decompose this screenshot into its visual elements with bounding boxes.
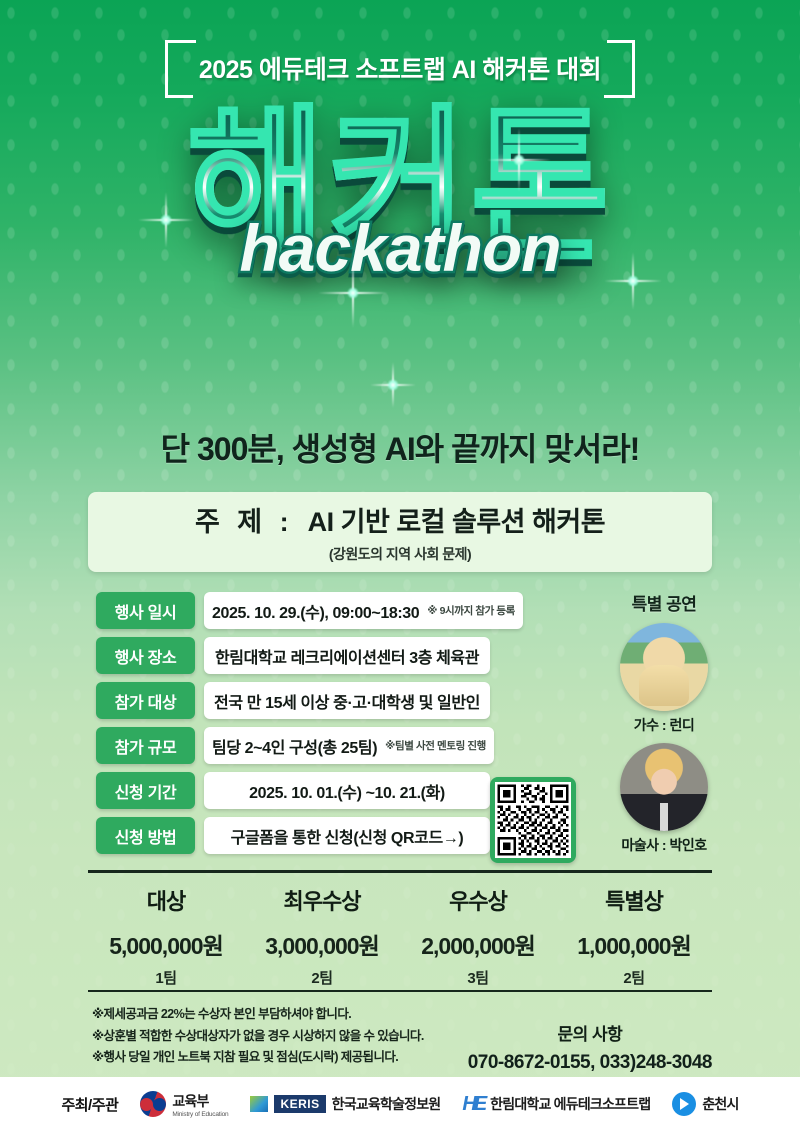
prize-team-count: 2팀	[244, 967, 400, 988]
info-row: 신청 기간 2025. 10. 01.(수) ~10. 21.(화)	[96, 772, 490, 809]
hallym-edutech-icon: HE	[462, 1093, 484, 1116]
info-table: 행사 일시 2025. 10. 29.(수), 09:00~18:30 ※ 9시…	[96, 592, 490, 862]
note-item: ※상훈별 적합한 수상대상자가 없을 경우 시상하지 않을 수 있습니다.	[92, 1026, 492, 1048]
keris-badge: KERIS	[274, 1095, 325, 1113]
info-row-value-text: 2025. 10. 01.(수) ~10. 21.(화)	[249, 779, 445, 803]
prize-column: 대상 5,000,000원 1팀	[88, 884, 244, 988]
logo-chuncheon-text: 춘천시	[702, 1094, 738, 1114]
qr-code-icon	[495, 782, 571, 858]
notes-list: ※제세공과금 22%는 수상자 본인 부담하셔야 합니다. ※상훈별 적합한 수…	[92, 1004, 492, 1069]
contact-phone-number[interactable]: 070-8672-0155, 033)248-3048	[468, 1052, 712, 1074]
info-row-label: 신청 방법	[96, 817, 195, 854]
prize-section: 대상 5,000,000원 1팀 최우수상 3,000,000원 2팀 우수상 …	[88, 884, 712, 988]
guest-card: 가수 : 런디	[596, 623, 732, 735]
hero-title-block: 해커톤 hackathon	[0, 104, 800, 404]
theme-box: 주 제 :AI 기반 로컬 솔루션 해커톤 (강원도의 지역 사회 문제)	[88, 492, 712, 572]
logo-chuncheon-city: 춘천시	[672, 1092, 738, 1116]
logo-ministry-of-education: 교육부 Ministry of Education	[140, 1091, 228, 1118]
footer-logo-bar: 주최/주관 교육부 Ministry of Education KERIS 한국…	[0, 1077, 800, 1131]
prize-amount: 1,000,000원	[556, 927, 712, 961]
keris-square-icon	[250, 1096, 268, 1112]
divider-below-prizes	[88, 990, 712, 992]
prize-amount: 3,000,000원	[244, 927, 400, 961]
banner-title: 2025 에듀테크 소프트랩 AI 해커톤 대회	[199, 50, 601, 86]
info-row-value: 전국 만 15세 이상 중·고·대학생 및 일반인	[204, 682, 490, 719]
logo-keris-text: 한국교육학술정보원	[332, 1094, 441, 1114]
tagline: 단 300분, 생성형 AI와 끝까지 맞서라!	[0, 424, 800, 470]
contact-title: 문의 사항	[468, 1020, 712, 1045]
info-row: 참가 규모 팀당 2~4인 구성(총 25팀) ※팀별 사전 멘토링 진행	[96, 727, 490, 764]
theme-label: 주 제 :	[195, 507, 294, 537]
info-row-value-text: 한림대학교 레크리에이션센터 3층 체육관	[215, 644, 479, 668]
info-row-value: 2025. 10. 29.(수), 09:00~18:30 ※ 9시까지 참가 …	[204, 592, 523, 629]
info-row-value: 한림대학교 레크리에이션센터 3층 체육관	[204, 637, 490, 674]
prize-column: 우수상 2,000,000원 3팀	[400, 884, 556, 988]
theme-main-line: 주 제 :AI 기반 로컬 솔루션 해커톤	[195, 500, 605, 539]
guest-name: 마술사 : 박인호	[596, 835, 732, 855]
info-row-note: ※ 9시까지 참가 등록	[427, 603, 515, 618]
note-item: ※제세공과금 22%는 수상자 본인 부담하셔야 합니다.	[92, 1004, 492, 1026]
info-row-value-text: 전국 만 15세 이상 중·고·대학생 및 일반인	[214, 689, 480, 713]
theme-subtitle: (강원도의 지역 사회 문제)	[329, 544, 471, 564]
prize-name: 최우수상	[244, 884, 400, 916]
prize-name: 우수상	[400, 884, 556, 916]
logo-ministry-subtext: Ministry of Education	[172, 1111, 228, 1118]
taeguk-icon	[140, 1091, 166, 1117]
application-qr-code[interactable]	[490, 777, 576, 863]
info-row: 행사 장소 한림대학교 레크리에이션센터 3층 체육관	[96, 637, 490, 674]
bracket-corner-top-right-icon	[607, 40, 635, 86]
info-row-label: 참가 대상	[96, 682, 195, 719]
divider-above-prizes	[88, 870, 712, 873]
bracket-corner-bottom-left-icon	[165, 52, 193, 98]
info-row-label: 참가 규모	[96, 727, 195, 764]
info-row-label: 행사 장소	[96, 637, 195, 674]
special-performance-title: 특별 공연	[596, 590, 732, 615]
prize-team-count: 2팀	[556, 967, 712, 988]
info-row-value-text: 2025. 10. 29.(수), 09:00~18:30	[212, 599, 419, 623]
prize-name: 특별상	[556, 884, 712, 916]
poster-root: 2025 에듀테크 소프트랩 AI 해커톤 대회 해커톤 hackathon 단…	[0, 0, 800, 1131]
prize-column: 특별상 1,000,000원 2팀	[556, 884, 712, 988]
logo-hallym-text: 한림대학교 에듀테크소프트랩	[490, 1094, 650, 1114]
magician-portrait	[620, 743, 708, 831]
special-performance-section: 특별 공연 가수 : 런디 마술사 : 박인호	[596, 590, 732, 855]
info-row-value: 팀당 2~4인 구성(총 25팀) ※팀별 사전 멘토링 진행	[204, 727, 494, 764]
bracket-frame: 2025 에듀테크 소프트랩 AI 해커톤 대회	[165, 38, 635, 100]
guest-card: 마술사 : 박인호	[596, 743, 732, 855]
contact-section: 문의 사항 070-8672-0155, 033)248-3048	[468, 1020, 712, 1074]
info-row-label: 신청 기간	[96, 772, 195, 809]
note-item: ※행사 당일 개인 노트북 지참 필요 및 점심(도시락) 제공됩니다.	[92, 1047, 492, 1069]
logo-hallym-edutech: HE 한림대학교 에듀테크소프트랩	[462, 1093, 650, 1116]
guest-name: 가수 : 런디	[596, 715, 732, 735]
info-row-label: 행사 일시	[96, 592, 195, 629]
info-row: 참가 대상 전국 만 15세 이상 중·고·대학생 및 일반인	[96, 682, 490, 719]
logo-keris: KERIS 한국교육학술정보원	[250, 1094, 440, 1114]
info-row-value-text: 구글폼을 통한 신청(신청 QR코드→)	[231, 824, 464, 848]
chuncheon-arrow-icon	[672, 1092, 696, 1116]
info-row-note: ※팀별 사전 멘토링 진행	[385, 738, 486, 753]
logo-ministry-text: 교육부 Ministry of Education	[172, 1091, 228, 1118]
prize-column: 최우수상 3,000,000원 2팀	[244, 884, 400, 988]
prize-team-count: 1팀	[88, 967, 244, 988]
footer-organizer-label: 주최/주관	[61, 1094, 118, 1115]
hero-english-title: hackathon	[239, 210, 560, 286]
info-row: 행사 일시 2025. 10. 29.(수), 09:00~18:30 ※ 9시…	[96, 592, 490, 629]
theme-value: AI 기반 로컬 솔루션 해커톤	[308, 507, 605, 537]
top-banner: 2025 에듀테크 소프트랩 AI 해커톤 대회	[0, 38, 800, 100]
info-row-value: 2025. 10. 01.(수) ~10. 21.(화)	[204, 772, 490, 809]
info-row-value: 구글폼을 통한 신청(신청 QR코드→)	[204, 817, 490, 854]
prize-name: 대상	[88, 884, 244, 916]
info-row: 신청 방법 구글폼을 통한 신청(신청 QR코드→)	[96, 817, 490, 854]
prize-amount: 5,000,000원	[88, 927, 244, 961]
prize-team-count: 3팀	[400, 967, 556, 988]
singer-portrait	[620, 623, 708, 711]
info-row-value-text: 팀당 2~4인 구성(총 25팀)	[212, 734, 377, 758]
prize-amount: 2,000,000원	[400, 927, 556, 961]
